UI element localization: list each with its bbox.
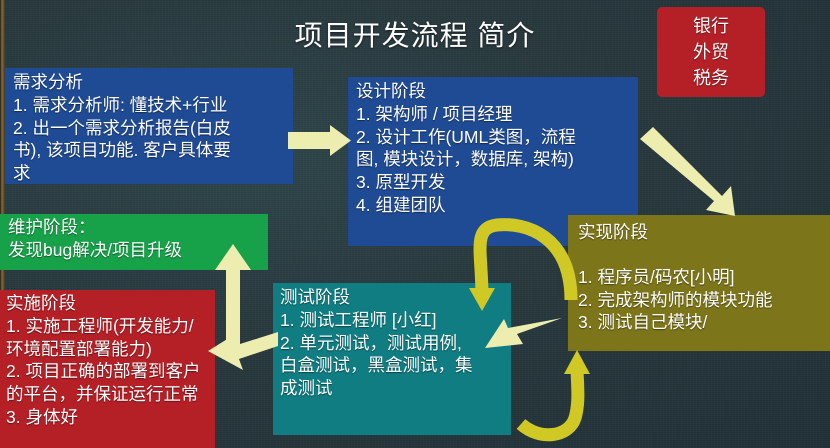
box-requirement-line-3: 书), 该项目功能. 客户具体要 — [13, 139, 287, 162]
box-deploy-line-2: 环境配置部署能力) — [6, 338, 211, 361]
arrow-test-to-realize-arc-icon — [521, 350, 590, 435]
box-maintain-header: 维护阶段： — [8, 216, 262, 239]
box-test-line-3: 白盒测试，黑盒测试，集 — [280, 354, 505, 377]
arrow-requirement-to-design-icon — [288, 125, 351, 156]
box-maintenance-phase: 维护阶段： 发现bug解决/项目升级 — [0, 214, 268, 270]
box-realize-line-3: 3. 测试自己模块/ — [578, 311, 824, 334]
box-deploy-line-3: 2. 项目正确的部署到客户 — [6, 360, 211, 383]
arrow-design-to-realize-icon — [640, 127, 735, 216]
box-design-line-2: 2. 设计工作(UML类图，流程 — [356, 126, 632, 149]
domain-foreign-trade: 外贸 — [657, 39, 765, 65]
box-test-header: 测试阶段 — [280, 286, 505, 309]
box-design-line-5: 4. 组建团队 — [356, 194, 632, 217]
domain-bank: 银行 — [657, 13, 765, 39]
arrow-test-to-deploy-icon — [208, 332, 278, 370]
box-design-line-3: 图, 模块设计，数据库, 架构) — [356, 148, 632, 171]
box-requirement-line-4: 求 — [13, 162, 287, 185]
box-deployment-phase: 实施阶段 1. 实施工程师(开发能力/ 环境配置部署能力) 2. 项目正确的部署… — [0, 290, 215, 448]
box-realize-line-2: 2. 完成架构师的模块功能 — [578, 289, 824, 312]
box-realize-header: 实现阶段 — [578, 221, 824, 244]
box-requirement-line-2: 2. 出一个需求分析报告(白皮 — [13, 117, 287, 140]
box-business-domains: 银行 外贸 税务 — [657, 7, 765, 97]
box-maintain-line-1: 发现bug解决/项目升级 — [8, 239, 262, 262]
box-test-line-1: 1. 测试工程师 [小红] — [280, 309, 505, 332]
box-test-line-2: 2. 单元测试，测试用例, — [280, 332, 505, 355]
box-requirement-line-1: 1. 需求分析师: 懂技术+行业 — [13, 94, 287, 117]
box-deploy-line-4: 的平台，并保证运行正常 — [6, 383, 211, 406]
box-deploy-line-1: 1. 实施工程师(开发能力/ — [6, 315, 211, 338]
box-design-header: 设计阶段 — [356, 80, 632, 103]
box-realization-phase: 实现阶段 1. 程序员/码农[小明] 2. 完成架构师的模块功能 3. 测试自己… — [568, 215, 830, 351]
box-design-line-4: 3. 原型开发 — [356, 171, 632, 194]
box-realize-line-1: 1. 程序员/码农[小明] — [578, 266, 824, 289]
box-deploy-header: 实施阶段 — [6, 292, 211, 315]
domain-taxation: 税务 — [657, 65, 765, 91]
slide-canvas: 项目开发流程 简介 需求分析 1. 需求分析师: 懂技术+行业 2. 出一个需求… — [0, 0, 830, 448]
box-test-line-4: 成测试 — [280, 377, 505, 400]
box-test-phase: 测试阶段 1. 测试工程师 [小红] 2. 单元测试，测试用例, 白盒测试，黑盒… — [273, 283, 511, 435]
box-requirement-analysis: 需求分析 1. 需求分析师: 懂技术+行业 2. 出一个需求分析报告(白皮 书)… — [5, 68, 293, 184]
box-deploy-line-5: 3. 身体好 — [6, 406, 211, 429]
box-requirement-header: 需求分析 — [13, 71, 287, 94]
box-design-line-1: 1. 架构师 / 项目经理 — [356, 103, 632, 126]
